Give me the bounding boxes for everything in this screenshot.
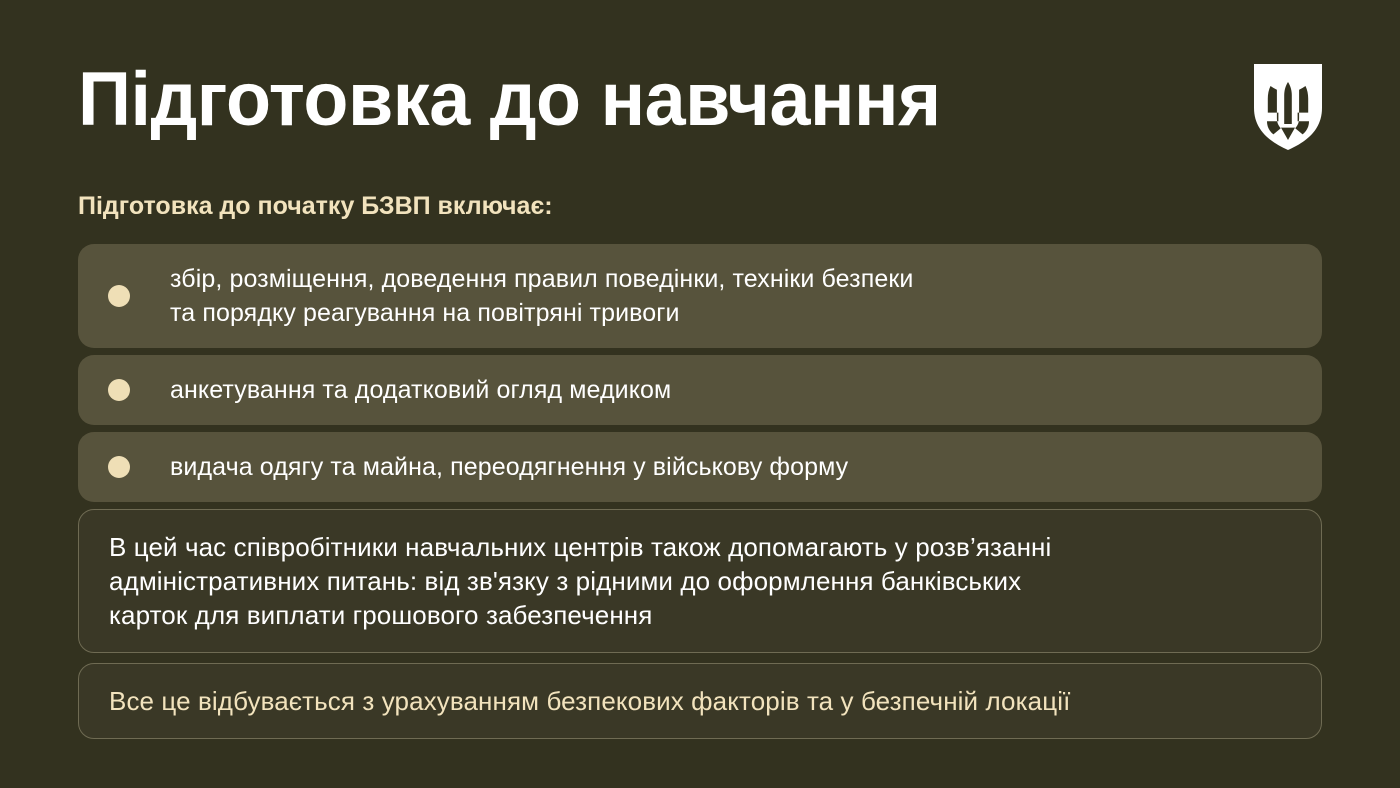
note-card-line: В цей час співробітники навчальних центр… [109, 530, 1051, 564]
content-card-list: збір, розміщення, доведення правил повед… [78, 244, 1322, 749]
slide-root: Підготовка до навчання Підготовка до поч… [0, 0, 1400, 788]
list-item-text: збір, розміщення, доведення правил повед… [170, 262, 923, 330]
bullet-dot-icon [108, 379, 130, 401]
highlight-card-text: Все це відбувається з урахуванням безпек… [109, 684, 1070, 718]
list-item-line: анкетування та додатковий огляд медиком [170, 373, 671, 407]
highlight-card: Все це відбувається з урахуванням безпек… [78, 663, 1322, 739]
note-card-text: В цей час співробітники навчальних центр… [109, 530, 1051, 632]
bullet-dot-icon [108, 285, 130, 307]
ukraine-ministry-of-defence-trident-shield-icon [1254, 64, 1322, 150]
note-card: В цей час співробітники навчальних центр… [78, 509, 1322, 653]
page-title: Підготовка до навчання [78, 52, 941, 148]
note-card-line: адміністративних питань: від зв'язку з р… [109, 564, 1051, 598]
list-item-text: анкетування та додатковий огляд медиком [170, 373, 681, 407]
list-item-line: видача одягу та майна, переодягнення у в… [170, 450, 848, 484]
list-item-line: та порядку реагування на повітряні триво… [170, 296, 913, 330]
bullet-dot-icon [108, 456, 130, 478]
list-item: видача одягу та майна, переодягнення у в… [78, 432, 1322, 502]
list-item: збір, розміщення, доведення правил повед… [78, 244, 1322, 348]
note-card-line: карток для виплати грошового забезпеченн… [109, 598, 1051, 632]
list-item: анкетування та додатковий огляд медиком [78, 355, 1322, 425]
list-item-line: збір, розміщення, доведення правил повед… [170, 262, 913, 296]
highlight-card-line: Все це відбувається з урахуванням безпек… [109, 684, 1070, 718]
slide-header: Підготовка до навчання [78, 52, 1322, 164]
section-subtitle: Підготовка до початку БЗВП включає: [78, 190, 553, 222]
list-item-text: видача одягу та майна, переодягнення у в… [170, 450, 858, 484]
